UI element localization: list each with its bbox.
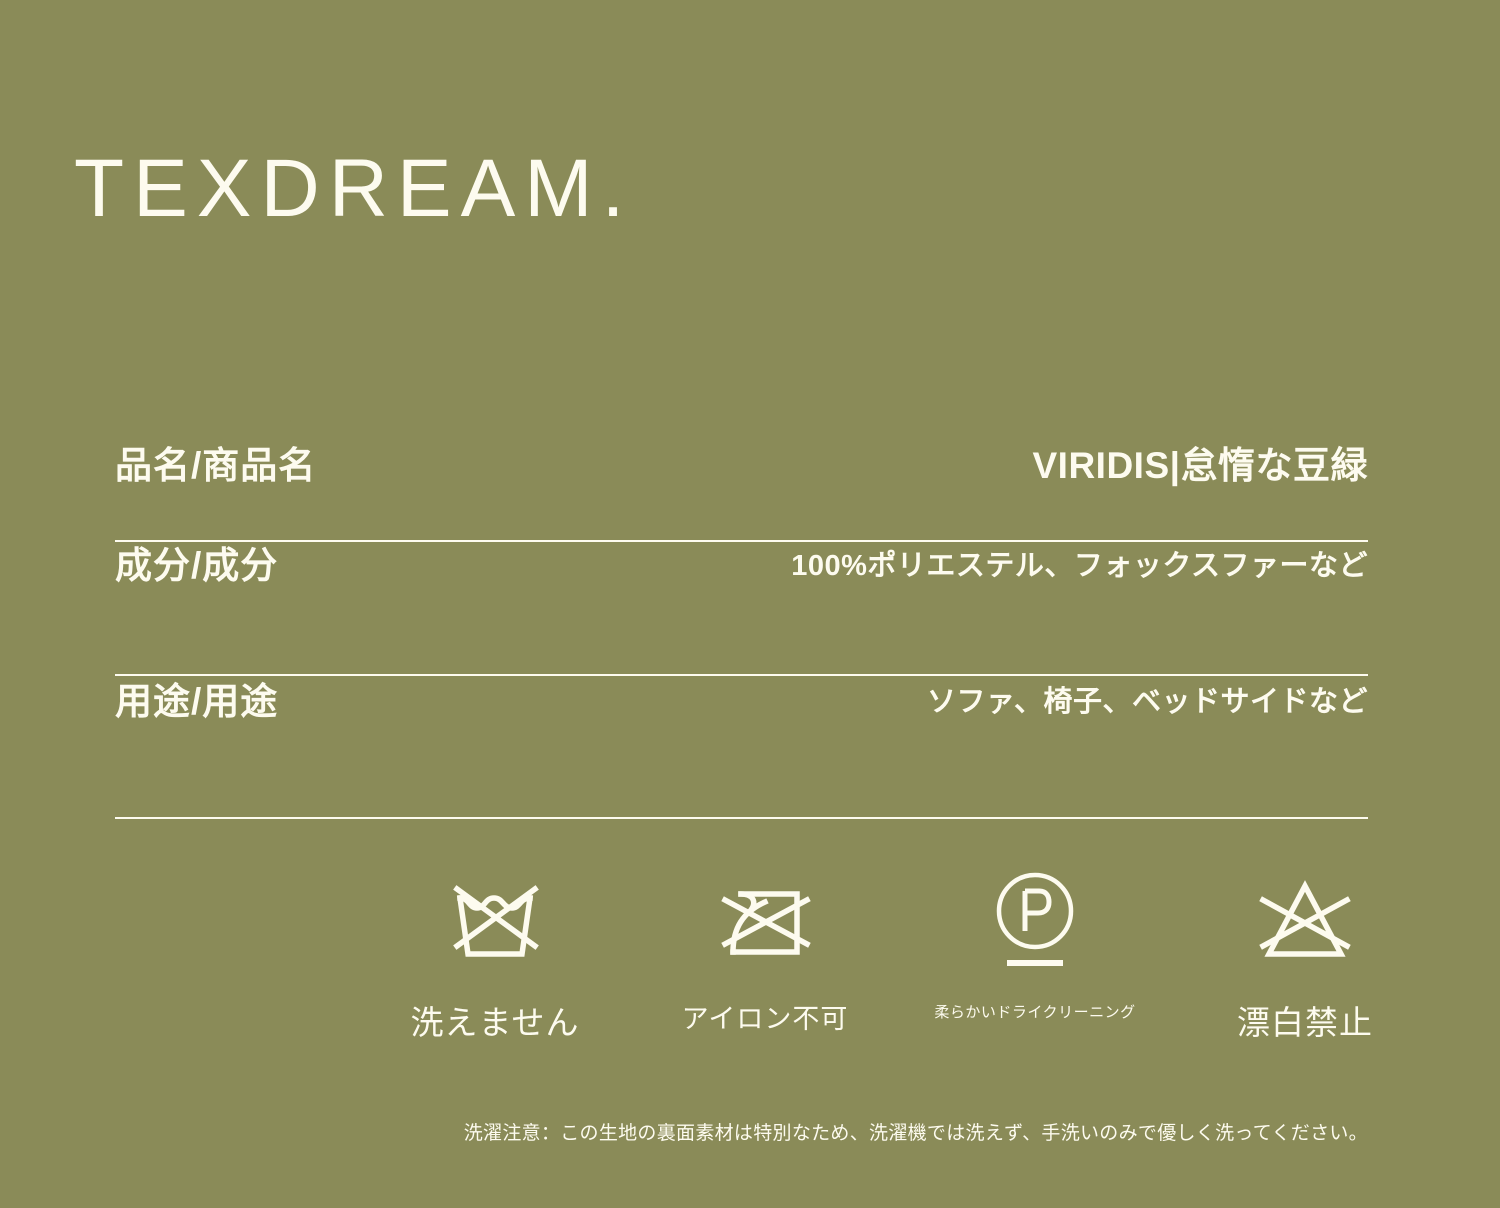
- spec-value: ソファ、椅子、ベッドサイドなど: [927, 676, 1368, 719]
- care-item-do-not-bleach: 漂白禁止: [1190, 865, 1420, 1041]
- wash-warning-footnote: 洗濯注意：この生地の裏面素材は特別なため、洗濯機では洗えず、手洗いのみで優しく洗…: [0, 1118, 1368, 1145]
- care-item-do-not-iron: アイロン不可: [650, 865, 880, 1035]
- do-not-bleach-icon: [1253, 865, 1357, 975]
- care-caption: 洗えません: [410, 1005, 579, 1041]
- fabric-care-label-card: TEXDREAM. 品名/商品名 VIRIDIS|怠惰な豆緑 成分/成分 100…: [0, 0, 1500, 1208]
- spec-row-composition: 成分/成分 100%ポリエステル、フォックスファーなど: [115, 542, 1368, 676]
- care-caption: 柔らかいドライクリーニング: [934, 1005, 1135, 1022]
- spec-value: 100%ポリエステル、フォックスファーなど: [791, 542, 1368, 583]
- gentle-dry-clean-p-icon: [983, 865, 1087, 975]
- spec-label: 用途/用途: [115, 676, 278, 724]
- spec-label: 成分/成分: [115, 542, 278, 588]
- do-not-wash-icon: [443, 865, 547, 975]
- spec-label: 品名/商品名: [115, 445, 316, 488]
- specification-table: 品名/商品名 VIRIDIS|怠惰な豆緑 成分/成分 100%ポリエステル、フォ…: [115, 445, 1368, 819]
- care-caption: アイロン不可: [682, 1005, 849, 1035]
- brand-logo: TEXDREAM.: [74, 148, 633, 230]
- spec-value: VIRIDIS|怠惰な豆緑: [1033, 445, 1369, 488]
- spec-row-usage: 用途/用途 ソファ、椅子、ベッドサイドなど: [115, 676, 1368, 819]
- care-caption: 漂白禁止: [1237, 1005, 1373, 1041]
- spec-row-product-name: 品名/商品名 VIRIDIS|怠惰な豆緑: [115, 445, 1368, 542]
- care-item-gentle-dry-clean: 柔らかいドライクリーニング: [920, 865, 1150, 1022]
- care-symbol-row: 洗えません アイロン不可 柔: [380, 865, 1420, 1041]
- care-item-do-not-wash: 洗えません: [380, 865, 610, 1041]
- do-not-iron-icon: [713, 865, 817, 975]
